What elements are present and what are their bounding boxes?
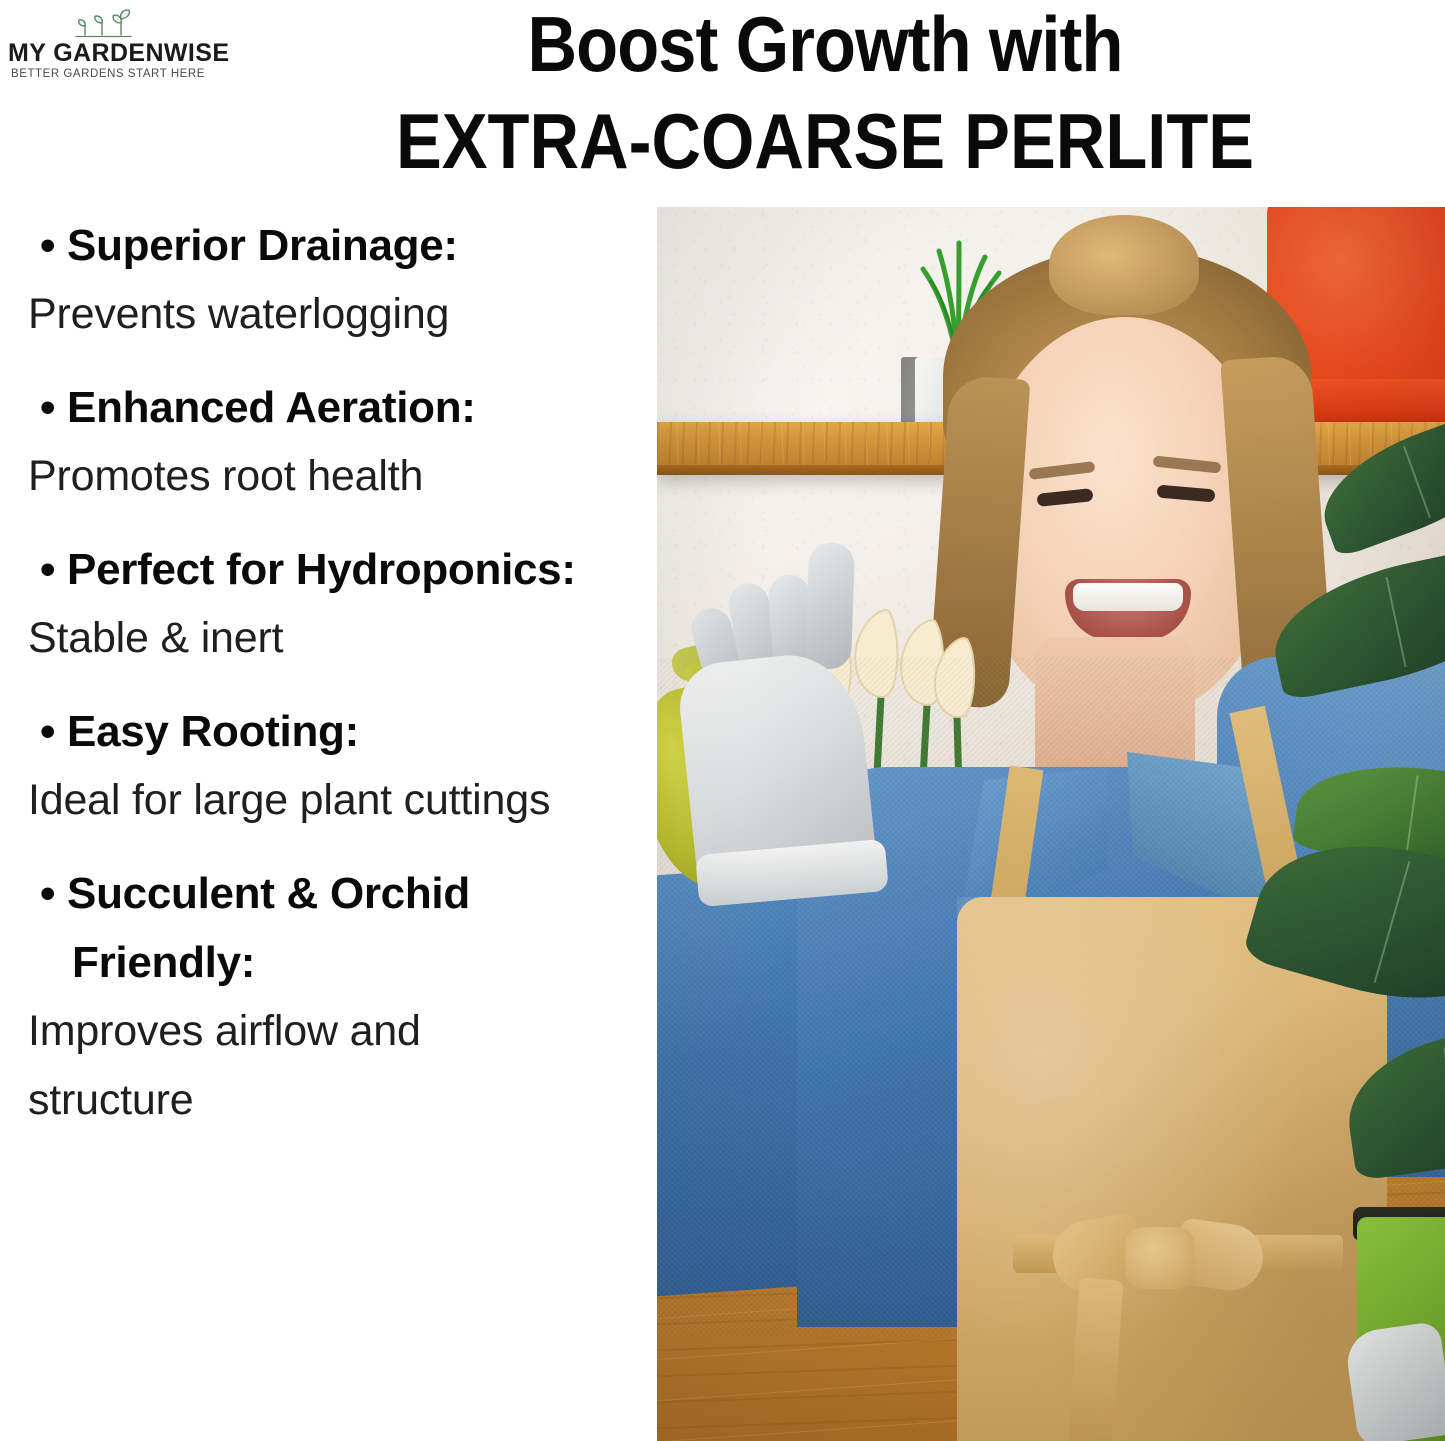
glove-finger (805, 542, 855, 670)
garden-glove-second (1344, 1321, 1445, 1441)
feature-title: • Succulent & Orchid Friendly: (0, 859, 640, 997)
feature-title-text: Superior Drainage: (67, 221, 458, 270)
bullet-icon: • (40, 869, 55, 918)
feature-title-text: Easy Rooting: (67, 707, 359, 756)
bullet-icon: • (40, 707, 55, 756)
feature-list: • Superior Drainage: Prevents waterloggi… (0, 207, 640, 1441)
feature-description: Prevents waterlogging (0, 280, 558, 349)
feature-description: Promotes root health (0, 442, 558, 511)
feature-item: • Easy Rooting: Ideal for large plant cu… (0, 697, 640, 835)
feature-title-text: Enhanced Aeration: (67, 383, 476, 432)
teeth (1073, 583, 1183, 611)
feature-title: • Enhanced Aeration: (0, 373, 640, 442)
bullet-icon: • (40, 383, 55, 432)
headline: Boost Growth with EXTRA-COARSE PERLITE (205, 0, 1445, 184)
headline-line-2: EXTRA-COARSE PERLITE (279, 98, 1370, 184)
feature-description: Improves airflow and structure (0, 997, 558, 1135)
apron-bow-knot (1125, 1227, 1195, 1289)
brand-name: MY GARDENWISE (8, 40, 208, 66)
feature-title: • Easy Rooting: (0, 697, 640, 766)
product-lifestyle-photo (657, 207, 1445, 1441)
seedling-sprouts-icon (69, 6, 147, 40)
brand-tagline: BETTER GARDENS START HERE (8, 66, 208, 82)
feature-item: • Succulent & Orchid Friendly: Improves … (0, 859, 640, 1135)
bullet-icon: • (40, 221, 55, 270)
headline-line-1: Boost Growth with (279, 0, 1370, 88)
feature-item: • Enhanced Aeration: Promotes root healt… (0, 373, 640, 511)
feature-item: • Superior Drainage: Prevents waterloggi… (0, 211, 640, 349)
feature-title-text: Succulent & Orchid Friendly: (67, 869, 470, 987)
bullet-icon: • (40, 545, 55, 594)
hair-bun (1049, 215, 1199, 315)
feature-item: • Perfect for Hydroponics: Stable & iner… (0, 535, 640, 673)
infographic-page: MY GARDENWISE BETTER GARDENS START HERE … (0, 0, 1445, 1441)
feature-description: Ideal for large plant cuttings (0, 766, 558, 835)
feature-title-text: Perfect for Hydroponics: (67, 545, 576, 594)
feature-description: Stable & inert (0, 604, 558, 673)
feature-title: • Perfect for Hydroponics: (0, 535, 640, 604)
feature-title: • Superior Drainage: (0, 211, 640, 280)
brand-logo: MY GARDENWISE BETTER GARDENS START HERE (8, 6, 208, 82)
